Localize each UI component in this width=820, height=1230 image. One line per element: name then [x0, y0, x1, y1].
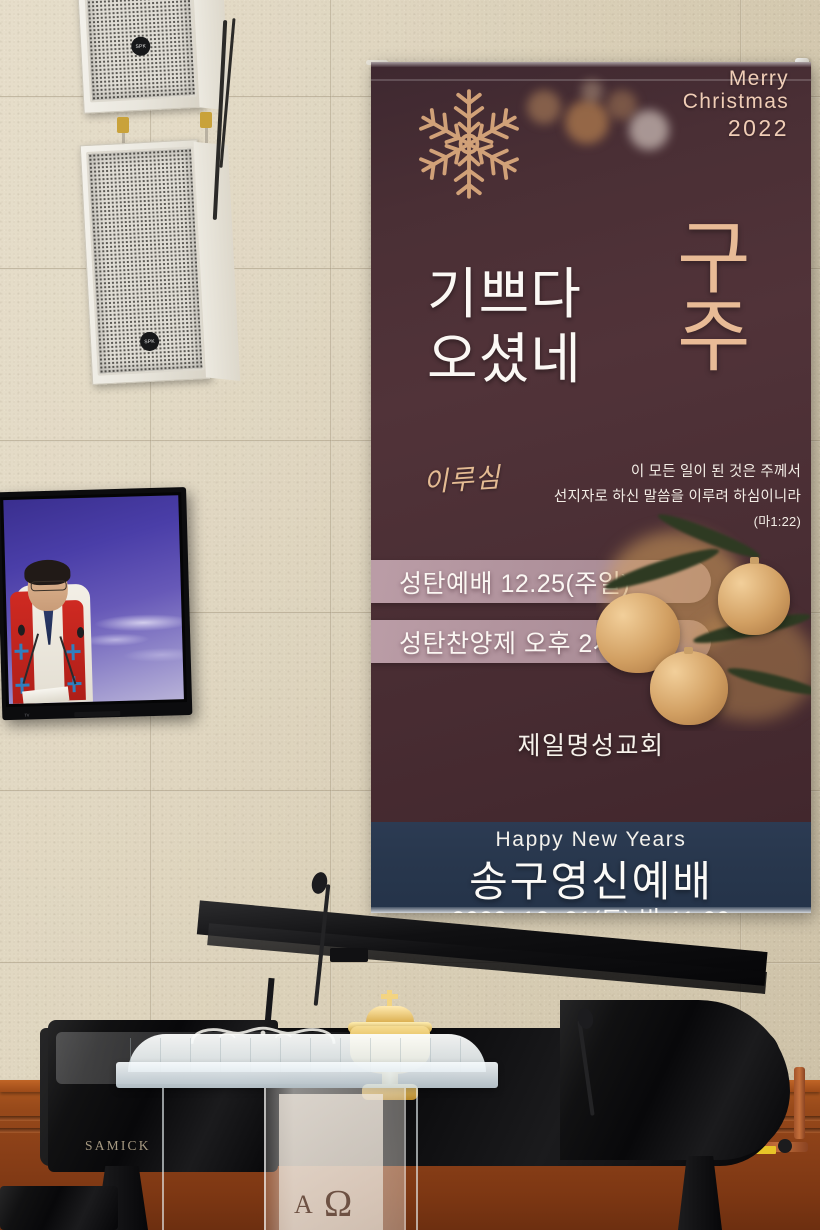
merry-line2: Christmas — [683, 90, 789, 113]
headline-gold-line1: 구 — [677, 214, 751, 303]
cross-icon — [19, 644, 22, 660]
ceiling-speaker-lower: SPK — [80, 137, 253, 390]
banner-fold-line — [371, 79, 811, 81]
headline-white-text: 기쁘다 오셨네 — [427, 262, 582, 392]
acrylic-pulpit: Α Ω — [116, 1034, 498, 1230]
bokeh-light — [527, 90, 561, 124]
monitor-brand-logo: TV — [24, 712, 29, 717]
christmas-ornaments-photo — [596, 501, 811, 731]
church-name: 제일명성교회 — [371, 726, 811, 762]
banner-top-hem — [371, 62, 811, 67]
headline-line2: 오셨네 — [427, 328, 582, 390]
banner-upper-section: Merry Christmas 2022 기쁘다 오셨네 구 주 이루심 이 모… — [371, 62, 811, 822]
pulpit-glass-edge — [416, 1088, 418, 1230]
monitor-screen — [3, 495, 184, 704]
pipe-tag — [756, 1146, 776, 1154]
wall-monitor[interactable]: TV — [0, 487, 192, 720]
screen-microphone-head — [18, 625, 25, 636]
pastor-stole-left — [10, 591, 35, 704]
headline-line1: 기쁘다 — [427, 263, 582, 325]
speaker-hanger-bracket — [200, 112, 212, 128]
pipe-valve-icon — [778, 1139, 792, 1153]
omega-symbol-icon: Ω — [324, 1182, 352, 1226]
ornament-ball — [650, 651, 728, 725]
screen-microphone-head — [77, 627, 84, 638]
pulpit-lectern-top — [116, 1062, 498, 1088]
event2-label: 성탄찬양제 오후 2시 — [399, 624, 616, 660]
pulpit-glass-edge — [162, 1088, 164, 1230]
snowflake-icon — [409, 84, 529, 204]
ornament-cap — [750, 557, 759, 564]
bokeh-light — [581, 80, 603, 102]
wall-seam — [330, 0, 332, 1090]
sanctuary-photo: SPK SPK — [0, 0, 820, 1230]
banner-headline: 기쁘다 오셨네 구 주 — [427, 262, 797, 432]
bokeh-light — [565, 100, 609, 144]
monitor-mount — [74, 711, 120, 717]
verse-line1: 이 모든 일이 된 것은 주께서 — [631, 464, 801, 480]
cross-icon — [71, 644, 74, 660]
ornament-ball — [718, 563, 790, 635]
headline-gold-line2: 주 — [677, 292, 751, 381]
wall-pipe-vertical — [794, 1067, 805, 1139]
banner-newyear-section: Happy New Years 송구영신예배 2022. 12. 31(토) 밤… — [371, 822, 811, 913]
verse-calligraphy-tag: 이루심 — [422, 455, 502, 499]
microphone-base — [330, 948, 368, 962]
eyeglasses-icon — [31, 580, 67, 591]
bokeh-light — [607, 90, 637, 120]
alpha-symbol-icon: Α — [294, 1190, 313, 1220]
speaker-hanger-bracket — [117, 117, 129, 133]
banner-year: 2022 — [683, 116, 789, 141]
ornament-cap — [684, 647, 693, 654]
christmas-banner: Merry Christmas 2022 기쁘다 오셨네 구 주 이루심 이 모… — [371, 62, 811, 913]
banner-bottom-hem — [371, 907, 811, 913]
ceiling-speaker-upper: SPK — [76, 0, 234, 124]
bokeh-light — [629, 110, 669, 150]
headline-gold-text: 구 주 — [677, 220, 751, 377]
wall-seam — [0, 962, 820, 964]
